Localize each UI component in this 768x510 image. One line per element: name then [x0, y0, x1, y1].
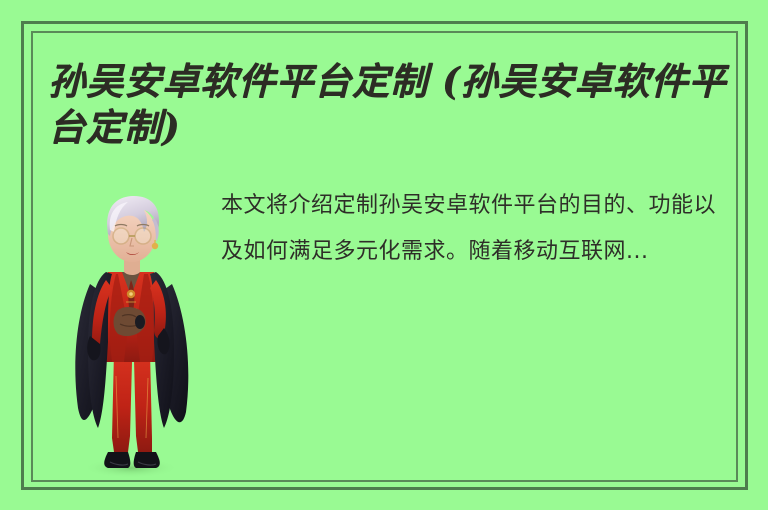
character-illustration	[56, 176, 206, 478]
poster-canvas: 孙吴安卓软件平台定制 (孙吴安卓软件平台定制) 本文将介绍定制孙吴安卓软件平台的…	[0, 0, 768, 510]
article-excerpt: 本文将介绍定制孙吴安卓软件平台的目的、功能以及如何满足多元化需求。随着移动互联网…	[221, 183, 733, 275]
page-title: 孙吴安卓软件平台定制 (孙吴安卓软件平台定制)	[48, 58, 738, 150]
